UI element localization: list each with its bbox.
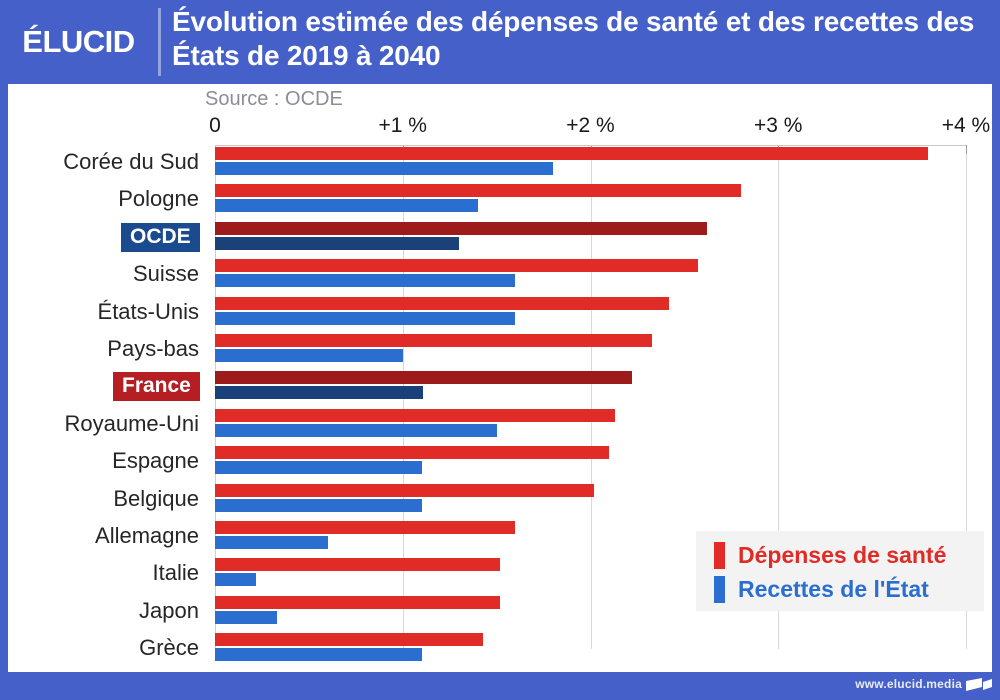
bar-recettes-etat	[215, 349, 403, 362]
bar-recettes-etat	[215, 274, 515, 287]
category-label: Belgique	[113, 486, 199, 512]
bar-recettes-etat	[215, 611, 277, 624]
bar-depenses-sante	[215, 446, 609, 459]
page-footer: www.elucid.media	[0, 672, 1000, 700]
category-label: Grèce	[139, 635, 199, 661]
flag-icon	[966, 678, 992, 694]
logo-text: ÉLUCID	[22, 24, 134, 60]
bar-recettes-etat	[215, 573, 256, 586]
page-title: Évolution estimée des dépenses de santé …	[172, 5, 982, 73]
category-label: Japon	[139, 598, 199, 624]
header-divider	[158, 8, 161, 76]
legend-label-recettes: Recettes de l'État	[738, 576, 929, 603]
chart-canvas: Source : OCDE 0+1 %+2 %+3 %+4 % Corée du…	[8, 84, 992, 672]
bar-recettes-etat	[215, 312, 515, 325]
page-header: ÉLUCID Évolution estimée des dépenses de…	[0, 0, 1000, 84]
bar-depenses-sante	[215, 596, 500, 609]
chart-row: Pays-bas	[8, 332, 992, 369]
chart-row: Belgique	[8, 482, 992, 519]
chart-row: Suisse	[8, 257, 992, 294]
x-axis-label-1: +1 %	[379, 114, 427, 138]
x-axis-label-0: 0	[209, 114, 221, 138]
chart-row: France	[8, 369, 992, 406]
category-label: Italie	[153, 560, 199, 586]
bar-depenses-sante	[215, 633, 483, 646]
legend-swatch-recettes	[714, 576, 725, 603]
chart-row: Grèce	[8, 631, 992, 668]
legend-label-depenses: Dépenses de santé	[738, 542, 946, 569]
bar-recettes-etat	[215, 648, 422, 661]
bar-recettes-etat	[215, 424, 497, 437]
bar-recettes-etat	[215, 199, 478, 212]
bar-depenses-sante	[215, 409, 615, 422]
bar-recettes-etat	[215, 499, 422, 512]
bar-depenses-sante	[215, 334, 652, 347]
bar-recettes-etat	[215, 536, 328, 549]
bar-depenses-sante	[215, 297, 669, 310]
category-badge-france: France	[113, 372, 200, 401]
bar-depenses-sante	[215, 558, 500, 571]
chart-row: Corée du Sud	[8, 145, 992, 182]
legend-item-depenses: Dépenses de santé	[714, 539, 946, 571]
bar-recettes-etat	[215, 461, 422, 474]
x-axis-label-3: +3 %	[754, 114, 802, 138]
category-label: Espagne	[112, 448, 199, 474]
category-badge-ocde: OCDE	[121, 223, 200, 252]
bar-depenses-sante	[215, 147, 928, 160]
x-axis-label-4: +4 %	[942, 114, 990, 138]
bar-recettes-etat	[215, 386, 423, 399]
bar-recettes-etat	[215, 162, 553, 175]
bar-depenses-sante	[215, 484, 594, 497]
chart-row: OCDE	[8, 220, 992, 257]
bar-depenses-sante	[215, 371, 632, 384]
watermark-text: www.elucid.media	[855, 677, 962, 691]
chart-legend: Dépenses de santé Recettes de l'État	[696, 531, 984, 611]
category-label: Royaume-Uni	[65, 411, 200, 437]
category-label: États-Unis	[98, 299, 199, 325]
bar-depenses-sante	[215, 184, 741, 197]
legend-swatch-depenses	[714, 542, 725, 569]
source-label: Source : OCDE	[205, 88, 343, 111]
elucid-logo: ÉLUCID	[0, 0, 157, 84]
chart-row: Pologne	[8, 182, 992, 219]
bar-recettes-etat	[215, 237, 459, 250]
category-label: Corée du Sud	[63, 149, 199, 175]
chart-page: ÉLUCID Évolution estimée des dépenses de…	[0, 0, 1000, 700]
bar-depenses-sante	[215, 521, 515, 534]
category-label: Pays-bas	[107, 336, 199, 362]
category-label: Pologne	[118, 186, 199, 212]
legend-item-recettes: Recettes de l'État	[714, 573, 929, 605]
category-label: Suisse	[133, 261, 199, 287]
chart-row: Royaume-Uni	[8, 407, 992, 444]
bar-depenses-sante	[215, 259, 698, 272]
chart-row: Espagne	[8, 444, 992, 481]
chart-row: États-Unis	[8, 295, 992, 332]
bar-depenses-sante	[215, 222, 707, 235]
category-label: Allemagne	[95, 523, 199, 549]
x-axis-label-2: +2 %	[566, 114, 614, 138]
